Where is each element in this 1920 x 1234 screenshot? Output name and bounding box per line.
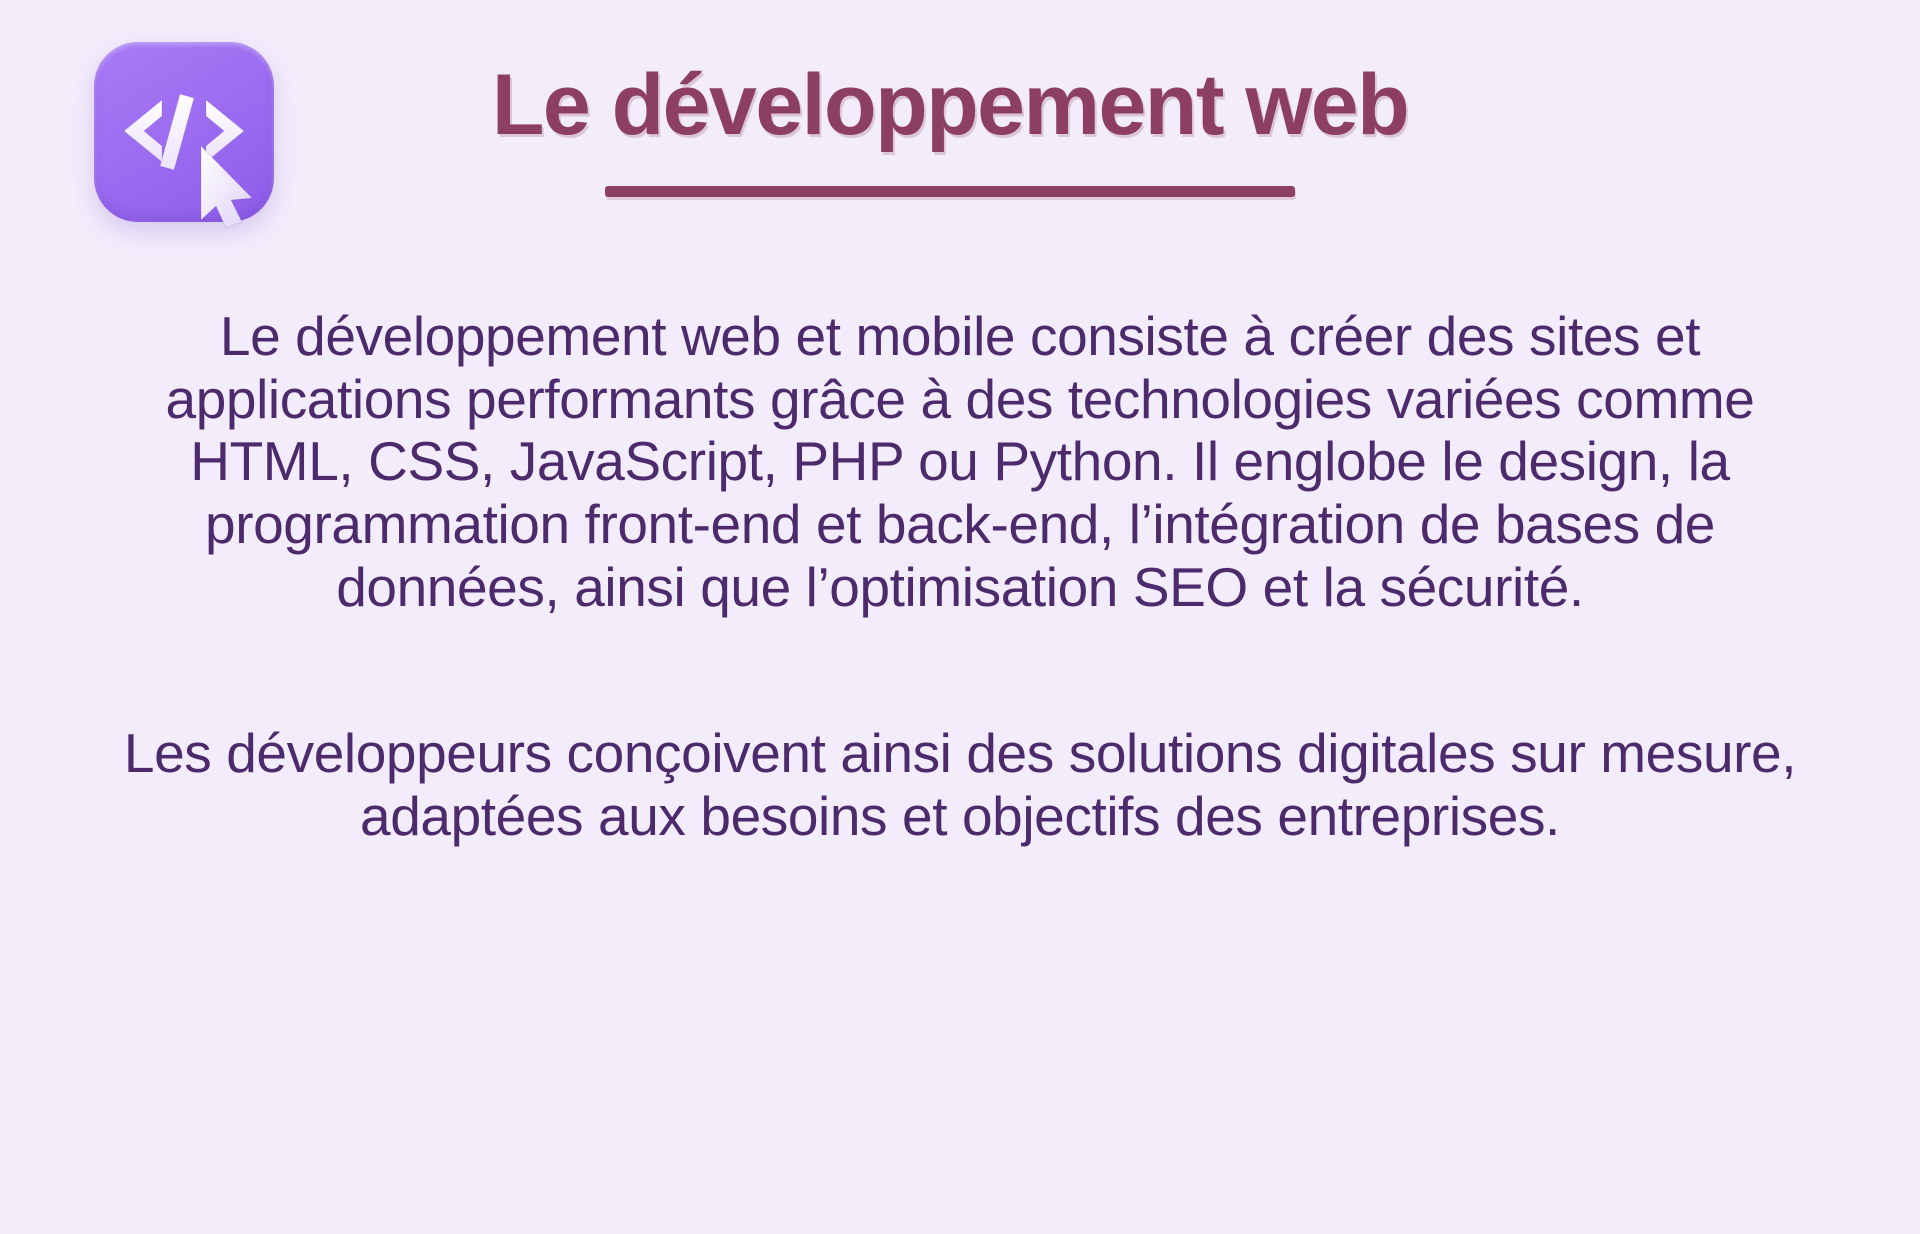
paragraph-conclusion: Les développeurs conçoivent ainsi des so… (120, 722, 1800, 847)
title-underline-divider (605, 186, 1295, 197)
page-title: Le développement web (310, 60, 1590, 150)
paragraph-intro: Le développement web et mobile consiste … (120, 305, 1800, 618)
body-copy: Le développement web et mobile consiste … (120, 305, 1800, 848)
slide-header: Le développement web (0, 0, 1920, 270)
slide-root: Le développement web Le développement we… (0, 0, 1920, 1234)
code-brackets-cursor-icon (94, 42, 274, 222)
title-block: Le développement web (310, 60, 1590, 197)
